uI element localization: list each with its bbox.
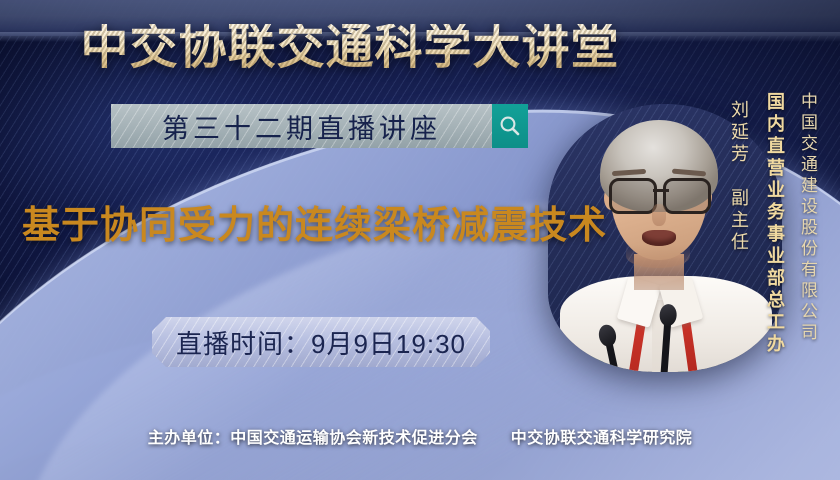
search-icon	[498, 114, 522, 138]
episode-band: 第三十二期直播讲座	[111, 104, 528, 148]
episode-label: 第三十二期直播讲座	[162, 107, 441, 146]
photo-chin-shadow	[626, 244, 690, 268]
lecture-headline: 基于协同受力的连续梁桥减震技术	[22, 206, 598, 248]
broadcast-time-banner: 直播时间：9月9日19:30	[152, 317, 490, 367]
photo-nose	[652, 204, 666, 226]
poster-canvas: 中交协联交通科学大讲堂 中交协联交通科学大讲堂 第三十二期直播讲座 基于协同受力…	[0, 0, 840, 480]
episode-label-box: 第三十二期直播讲座	[111, 104, 492, 148]
search-button[interactable]	[492, 104, 528, 148]
broadcast-time-text: 直播时间：9月9日19:30	[152, 317, 490, 367]
poster-title: 中交协联交通科学大讲堂	[0, 24, 700, 72]
organizers-footer: 主办单位：中国交通运输协会新技术促进分会 中交协联交通科学研究院	[0, 424, 840, 448]
speaker-name-title: 刘延芳 副主任	[726, 100, 752, 254]
speaker-department: 国内直营业务事业部总工办	[762, 92, 788, 356]
speaker-organization: 中国交通建设股份有限公司	[795, 92, 820, 344]
